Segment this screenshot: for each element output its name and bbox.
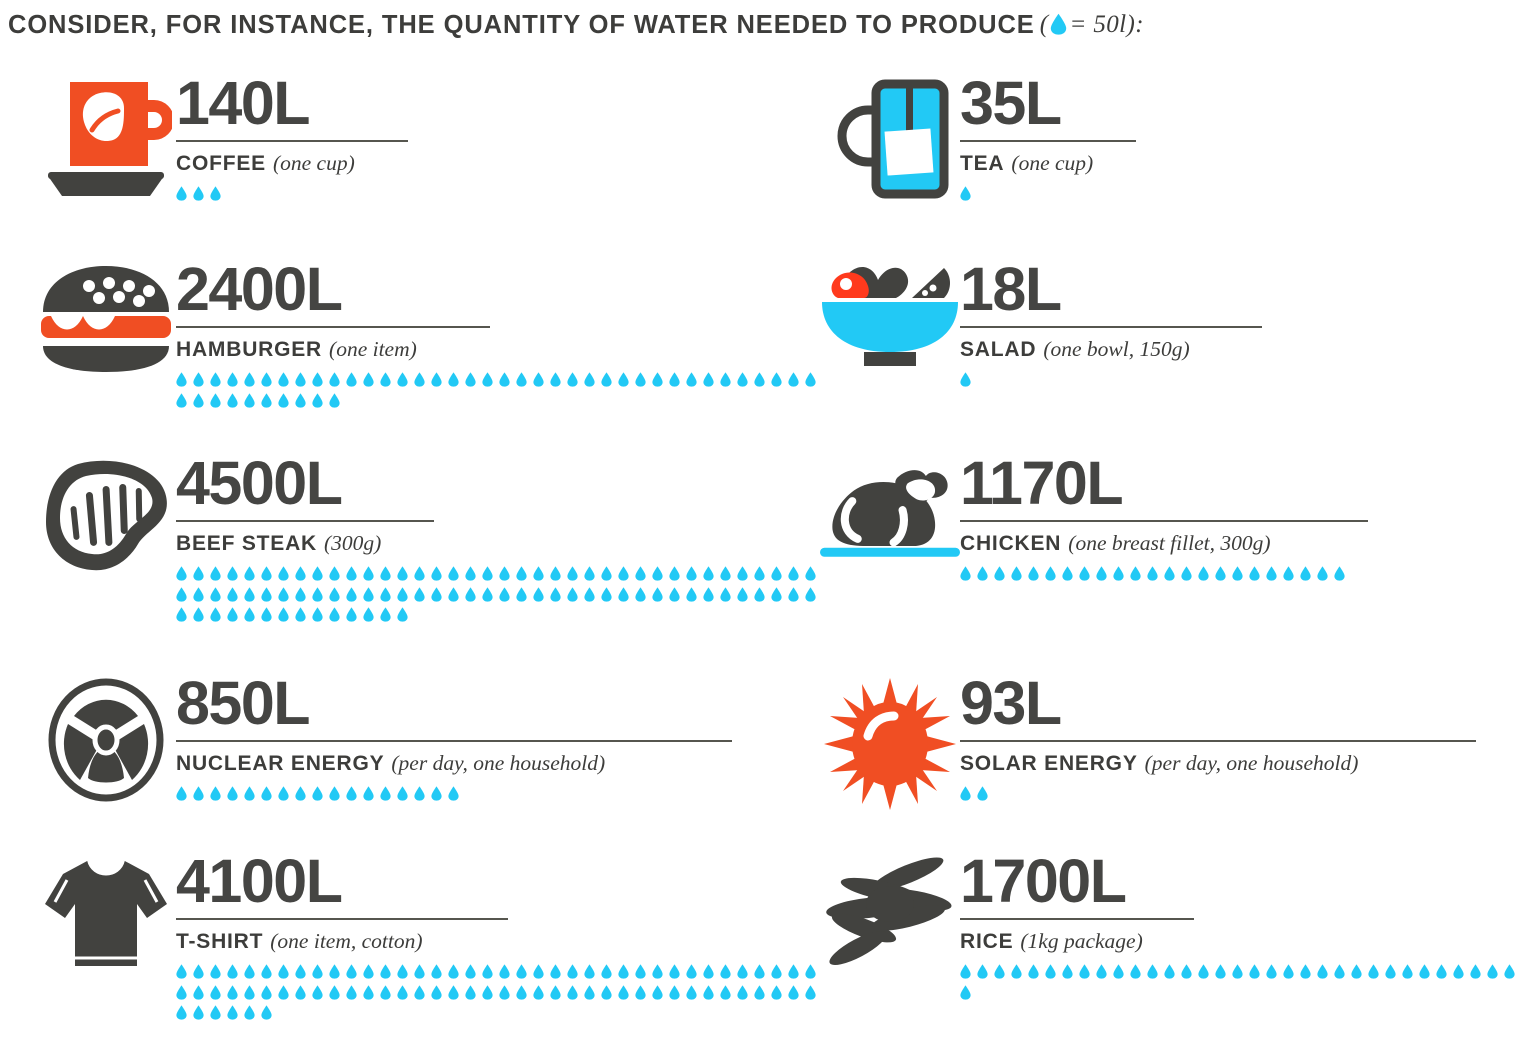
water-drop-icon <box>960 566 971 581</box>
water-drop-icon <box>448 985 459 1000</box>
water-drop-icon <box>193 964 204 979</box>
water-drop-icon <box>788 964 799 979</box>
water-drop-icon <box>960 786 971 801</box>
water-drop-icon <box>261 964 272 979</box>
solar-energy-rule <box>960 740 1476 742</box>
water-drop-icon <box>703 372 714 387</box>
solar-energy-sub: (per day, one household) <box>1145 751 1359 775</box>
chicken-rule <box>960 520 1368 522</box>
water-drop-icon <box>1436 964 1447 979</box>
water-drop-icon <box>516 587 527 602</box>
water-drop-icon <box>380 587 391 602</box>
water-drop-icon <box>1283 964 1294 979</box>
water-drop-icon <box>397 985 408 1000</box>
water-drop-icon <box>1045 566 1056 581</box>
hamburger-label-line: HAMBURGER(one item) <box>176 337 826 364</box>
chicken-drops <box>960 566 1368 587</box>
water-drop-icon <box>465 372 476 387</box>
water-drop-icon <box>618 964 629 979</box>
t-shirt-value: 4100L <box>176 852 826 910</box>
water-drop-icon <box>363 964 374 979</box>
water-drop-icon <box>1368 964 1379 979</box>
water-drop-icon <box>193 372 204 387</box>
water-drop-icon <box>244 587 255 602</box>
water-drop-icon <box>329 985 340 1000</box>
water-drop-icon <box>261 985 272 1000</box>
water-drop-icon <box>1011 964 1022 979</box>
water-drop-icon <box>244 1005 255 1020</box>
nuclear-energy-rule <box>176 740 732 742</box>
water-drop-icon <box>635 566 646 581</box>
water-drop-icon <box>227 587 238 602</box>
water-drop-icon <box>960 186 971 201</box>
water-drop-icon <box>601 566 612 581</box>
water-drop-icon <box>703 964 714 979</box>
water-drop-icon <box>278 393 289 408</box>
water-drop-icon <box>1351 964 1362 979</box>
tea-label: TEA <box>960 152 1004 175</box>
water-drop-icon <box>210 186 221 201</box>
water-drop-icon <box>397 607 408 622</box>
water-drop-icon <box>261 587 272 602</box>
tea-rule <box>960 140 1136 142</box>
water-drop-icon <box>482 566 493 581</box>
rice-label-line: RICE(1kg package) <box>960 929 1536 956</box>
water-drop-icon <box>193 985 204 1000</box>
water-drop-icon <box>737 372 748 387</box>
water-drop-icon <box>278 587 289 602</box>
water-drop-icon <box>686 566 697 581</box>
hamburger-value: 2400L <box>176 260 826 318</box>
water-drop-icon <box>295 587 306 602</box>
water-drop-icon <box>363 607 374 622</box>
chicken-body: 1170L CHICKEN(one breast fillet, 300g) <box>960 454 1368 587</box>
water-drop-icon <box>1164 964 1175 979</box>
hamburger-rule <box>176 326 490 328</box>
t-shirt-sub: (one item, cotton) <box>270 929 422 953</box>
water-drop-icon <box>278 786 289 801</box>
rice-drops <box>960 964 1536 1005</box>
water-drop-icon <box>295 393 306 408</box>
water-drop-icon <box>1198 566 1209 581</box>
water-drop-icon <box>499 372 510 387</box>
water-drop-icon <box>244 786 255 801</box>
water-drop-icon <box>465 587 476 602</box>
nuclear-energy-drops <box>176 786 732 807</box>
water-drop-icon <box>261 566 272 581</box>
water-drop-icon <box>805 566 816 581</box>
water-drop-icon <box>261 393 272 408</box>
water-drop-icon <box>397 372 408 387</box>
water-drop-icon <box>431 372 442 387</box>
header-title: CONSIDER, FOR INSTANCE, THE QUANTITY OF … <box>8 11 1035 40</box>
water-drop-icon <box>210 1005 221 1020</box>
water-drop-icon <box>1096 566 1107 581</box>
water-drop-icon <box>635 372 646 387</box>
water-drop-icon <box>176 393 187 408</box>
water-drop-icon <box>448 786 459 801</box>
water-drop-icon <box>805 985 816 1000</box>
solar-energy-label-line: SOLAR ENERGY(per day, one household) <box>960 751 1476 778</box>
rice-rule <box>960 918 1194 920</box>
water-drop-icon <box>737 964 748 979</box>
beef-steak-rule <box>176 520 434 522</box>
nuclear-energy-label-line: NUCLEAR ENERGY(per day, one household) <box>176 751 732 778</box>
entry-salad: 18L SALAD(one bowl, 150g) <box>820 260 1262 393</box>
water-drop-icon <box>295 786 306 801</box>
header-legend-value: = 50l): <box>1069 11 1144 38</box>
salad-value: 18L <box>960 260 1262 318</box>
water-drop-icon <box>1419 964 1430 979</box>
water-drop-icon <box>686 372 697 387</box>
t-shirt-label-line: T-SHIRT(one item, cotton) <box>176 929 826 956</box>
water-drop-icon <box>567 372 578 387</box>
water-drop-icon <box>414 566 425 581</box>
water-drop-icon <box>737 587 748 602</box>
water-drop-icon <box>193 566 204 581</box>
tea-drops <box>960 186 1136 207</box>
water-drop-icon <box>516 372 527 387</box>
t-shirt-body: 4100L T-SHIRT(one item, cotton) <box>176 852 826 1026</box>
water-drop-icon <box>312 964 323 979</box>
coffee-cup-icon <box>36 74 176 206</box>
entry-t-shirt: 4100L T-SHIRT(one item, cotton) <box>36 852 826 1026</box>
water-drop-icon <box>618 587 629 602</box>
water-drop-icon <box>1062 964 1073 979</box>
water-drop-icon <box>465 985 476 1000</box>
water-drop-icon <box>1334 566 1345 581</box>
water-drop-icon <box>431 985 442 1000</box>
water-drop-icon <box>550 587 561 602</box>
water-drop-icon <box>994 964 1005 979</box>
water-drop-icon <box>771 372 782 387</box>
water-drop-icon <box>244 985 255 1000</box>
water-drop-icon <box>533 566 544 581</box>
salad-label-line: SALAD(one bowl, 150g) <box>960 337 1262 364</box>
water-drop-icon <box>295 964 306 979</box>
water-drop-icon <box>1181 566 1192 581</box>
water-drop-icon <box>1249 566 1260 581</box>
water-drop-icon <box>431 587 442 602</box>
beef-steak-label: BEEF STEAK <box>176 532 317 555</box>
water-drop-icon <box>380 786 391 801</box>
water-drop-icon <box>227 607 238 622</box>
water-drop-icon <box>550 566 561 581</box>
water-drop-icon <box>1181 964 1192 979</box>
water-drop-icon <box>567 587 578 602</box>
tea-sub: (one cup) <box>1011 151 1093 175</box>
water-drop-icon <box>788 587 799 602</box>
steak-icon <box>36 454 176 574</box>
nuclear-energy-value: 850L <box>176 674 732 732</box>
water-drop-icon <box>312 985 323 1000</box>
beef-steak-drops <box>176 566 826 628</box>
water-drop-icon <box>329 393 340 408</box>
water-drop-icon <box>994 566 1005 581</box>
water-drop-icon <box>754 372 765 387</box>
water-drop-icon <box>278 566 289 581</box>
tea-mug-icon <box>820 74 960 204</box>
water-drop-icon <box>771 964 782 979</box>
water-drop-icon <box>516 985 527 1000</box>
coffee-label: COFFEE <box>176 152 266 175</box>
water-drop-icon <box>1011 566 1022 581</box>
water-drop-icon <box>1215 566 1226 581</box>
water-drop-icon <box>584 372 595 387</box>
water-drop-icon <box>618 372 629 387</box>
water-drop-icon <box>346 566 357 581</box>
water-drop-icon <box>1130 566 1141 581</box>
water-drop-icon <box>1317 964 1328 979</box>
water-drop-icon <box>1334 964 1345 979</box>
rice-label: RICE <box>960 930 1013 953</box>
salad-rule <box>960 326 1262 328</box>
water-drop-icon <box>176 186 187 201</box>
water-drop-icon <box>210 393 221 408</box>
water-drop-icon <box>380 566 391 581</box>
water-drop-icon <box>601 587 612 602</box>
water-drop-icon <box>210 372 221 387</box>
water-drop-icon <box>193 587 204 602</box>
water-drop-icon <box>312 372 323 387</box>
roast-chicken-icon <box>820 454 960 564</box>
water-drop-icon <box>550 985 561 1000</box>
water-drop-icon <box>210 964 221 979</box>
water-drop-icon <box>431 786 442 801</box>
water-drop-icon <box>516 964 527 979</box>
nuclear-energy-sub: (per day, one household) <box>391 751 605 775</box>
water-drop-icon <box>210 985 221 1000</box>
water-drop-icon <box>1079 964 1090 979</box>
water-drop-icon <box>720 587 731 602</box>
water-drop-icon <box>720 985 731 1000</box>
beef-steak-body: 4500L BEEF STEAK(300g) <box>176 454 826 628</box>
water-drop-icon <box>193 1005 204 1020</box>
hamburger-label: HAMBURGER <box>176 338 322 361</box>
water-drop-icon <box>720 566 731 581</box>
water-drop-icon <box>805 964 816 979</box>
rice-grains-icon <box>820 852 960 970</box>
water-drop-icon <box>227 985 238 1000</box>
water-drop-icon <box>312 587 323 602</box>
water-drop-icon <box>261 786 272 801</box>
entry-nuclear-energy: 850L NUCLEAR ENERGY(per day, one househo… <box>36 674 732 807</box>
water-drop-icon <box>652 964 663 979</box>
hamburger-body: 2400L HAMBURGER(one item) <box>176 260 826 413</box>
water-drop-icon <box>346 964 357 979</box>
chicken-label: CHICKEN <box>960 532 1061 555</box>
coffee-body: 140L COFFEE(one cup) <box>176 74 408 207</box>
water-drop-icon <box>227 372 238 387</box>
water-drop-icon <box>312 607 323 622</box>
t-shirt-drops <box>176 964 826 1026</box>
water-drop-icon <box>465 566 476 581</box>
water-drop-icon <box>261 372 272 387</box>
water-drop-icon <box>448 372 459 387</box>
t-shirt-rule <box>176 918 508 920</box>
water-drop-icon <box>550 372 561 387</box>
chicken-sub: (one breast fillet, 300g) <box>1068 531 1270 555</box>
entry-hamburger: 2400L HAMBURGER(one item) <box>36 260 826 413</box>
water-drop-icon <box>977 786 988 801</box>
water-drop-icon <box>176 1005 187 1020</box>
water-drop-icon <box>176 372 187 387</box>
coffee-drops <box>176 186 408 207</box>
water-drop-icon <box>720 372 731 387</box>
water-drop-icon <box>295 607 306 622</box>
salad-drops <box>960 372 1262 393</box>
water-drop-icon <box>533 372 544 387</box>
water-drop-icon <box>516 566 527 581</box>
water-drop-icon <box>788 985 799 1000</box>
water-drop-icon <box>414 985 425 1000</box>
water-drop-icon <box>1249 964 1260 979</box>
tea-label-line: TEA(one cup) <box>960 151 1136 178</box>
water-drop-icon <box>414 964 425 979</box>
water-drop-icon <box>227 1005 238 1020</box>
beef-steak-sub: (300g) <box>324 531 381 555</box>
header-legend: ( = 50l): <box>1040 11 1144 39</box>
water-drop-icon <box>652 566 663 581</box>
water-drop-icon <box>227 566 238 581</box>
water-drop-icon <box>1198 964 1209 979</box>
solar-energy-label: SOLAR ENERGY <box>960 752 1138 775</box>
water-drop-icon <box>278 372 289 387</box>
entry-rice: 1700L RICE(1kg package) <box>820 852 1536 1005</box>
water-drop-icon <box>1215 964 1226 979</box>
infographic-page: CONSIDER, FOR INSTANCE, THE QUANTITY OF … <box>0 0 1536 1050</box>
water-drop-icon <box>669 372 680 387</box>
water-drop-icon <box>329 566 340 581</box>
water-drop-icon <box>960 964 971 979</box>
water-drop-icon <box>210 587 221 602</box>
water-drop-icon <box>703 985 714 1000</box>
water-drop-icon <box>227 964 238 979</box>
hamburger-drops <box>176 372 826 413</box>
water-drop-icon <box>295 566 306 581</box>
water-drop-icon <box>363 372 374 387</box>
water-drop-icon <box>601 985 612 1000</box>
water-drop-icon <box>703 587 714 602</box>
water-drop-icon <box>176 786 187 801</box>
rice-value: 1700L <box>960 852 1536 910</box>
water-drop-icon <box>329 607 340 622</box>
water-drop-icon <box>380 985 391 1000</box>
water-drop-icon <box>1028 566 1039 581</box>
water-drop-icon <box>1300 566 1311 581</box>
t-shirt-icon <box>36 852 176 972</box>
water-drop-icon <box>346 786 357 801</box>
chicken-value: 1170L <box>960 454 1368 512</box>
water-drop-icon <box>448 566 459 581</box>
salad-body: 18L SALAD(one bowl, 150g) <box>960 260 1262 393</box>
solar-energy-body: 93L SOLAR ENERGY(per day, one household) <box>960 674 1476 807</box>
water-drop-icon <box>176 587 187 602</box>
water-drop-icon <box>278 985 289 1000</box>
water-drop-icon <box>1283 566 1294 581</box>
water-drop-icon <box>652 372 663 387</box>
water-drop-icon <box>805 372 816 387</box>
water-drop-icon <box>754 587 765 602</box>
hamburger-sub: (one item) <box>329 337 417 361</box>
water-drop-icon <box>1266 964 1277 979</box>
water-drop-icon <box>380 964 391 979</box>
water-drop-icon <box>1062 566 1073 581</box>
beef-steak-value: 4500L <box>176 454 826 512</box>
water-drop-icon <box>550 964 561 979</box>
water-drop-icon <box>1317 566 1328 581</box>
water-drop-icon <box>1147 566 1158 581</box>
water-drop-icon <box>1147 964 1158 979</box>
water-drop-icon <box>176 964 187 979</box>
water-drop-icon <box>244 566 255 581</box>
water-drop-icon <box>686 587 697 602</box>
water-drop-icon <box>244 607 255 622</box>
tea-value: 35L <box>960 74 1136 132</box>
water-drop-icon <box>227 786 238 801</box>
coffee-sub: (one cup) <box>273 151 355 175</box>
beef-steak-label-line: BEEF STEAK(300g) <box>176 531 826 558</box>
water-drop-icon <box>1266 566 1277 581</box>
water-drop-icon <box>669 587 680 602</box>
solar-energy-drops <box>960 786 1476 807</box>
water-drop-icon <box>1164 566 1175 581</box>
water-drop-icon <box>703 566 714 581</box>
water-drop-icon <box>635 587 646 602</box>
water-drop-icon <box>210 607 221 622</box>
water-drop-icon <box>584 964 595 979</box>
water-drop-icon <box>584 985 595 1000</box>
water-drop-icon <box>363 587 374 602</box>
water-drop-icon <box>210 786 221 801</box>
water-drop-icon <box>193 786 204 801</box>
salad-bowl-icon <box>820 260 960 368</box>
water-drop-icon <box>278 964 289 979</box>
water-drop-icon <box>1050 13 1067 35</box>
water-drop-icon <box>295 372 306 387</box>
water-drop-icon <box>1232 964 1243 979</box>
water-drop-icon <box>1130 964 1141 979</box>
radiation-icon <box>36 674 176 802</box>
water-drop-icon <box>652 587 663 602</box>
water-drop-icon <box>618 985 629 1000</box>
entry-beef-steak: 4500L BEEF STEAK(300g) <box>36 454 826 628</box>
water-drop-icon <box>533 985 544 1000</box>
water-drop-icon <box>346 587 357 602</box>
water-drop-icon <box>363 566 374 581</box>
water-drop-icon <box>363 786 374 801</box>
water-drop-icon <box>329 786 340 801</box>
sun-icon <box>820 674 960 810</box>
water-drop-icon <box>414 372 425 387</box>
water-drop-icon <box>601 964 612 979</box>
water-drop-icon <box>737 566 748 581</box>
water-drop-icon <box>533 964 544 979</box>
water-drop-icon <box>669 985 680 1000</box>
water-drop-icon <box>635 985 646 1000</box>
water-drop-icon <box>567 566 578 581</box>
water-drop-icon <box>771 587 782 602</box>
water-drop-icon <box>312 393 323 408</box>
water-drop-icon <box>346 372 357 387</box>
water-drop-icon <box>329 964 340 979</box>
coffee-rule <box>176 140 408 142</box>
water-drop-icon <box>397 587 408 602</box>
water-drop-icon <box>1045 964 1056 979</box>
water-drop-icon <box>448 587 459 602</box>
hamburger-icon <box>36 260 176 374</box>
water-drop-icon <box>960 372 971 387</box>
